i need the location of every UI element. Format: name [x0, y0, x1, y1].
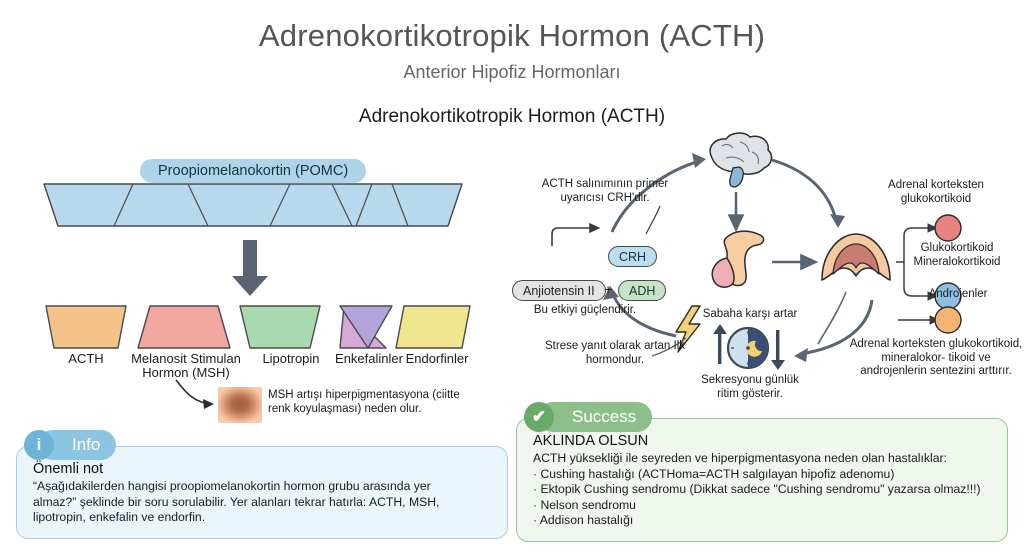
crh-primary-note: ACTH salınımının primer uyarıcısı CRH'di…	[520, 178, 690, 205]
synthesis-line-1: Adrenal korteksten	[850, 338, 946, 350]
page-subtitle: Anterior Hipofiz Hormonları	[0, 62, 1024, 83]
pomc-fragments-group	[46, 306, 470, 348]
pill-crh[interactable]: CRH	[608, 246, 657, 267]
pituitary-illustration	[712, 231, 763, 287]
info-icon: i	[24, 430, 54, 460]
success-line-5: · Addison hastalığı	[533, 513, 991, 529]
angiotensin-to-crh-arrow	[552, 228, 594, 246]
success-callout-header: ✔ Success	[524, 402, 652, 432]
morning-increase-label: Sabaha karşı artar	[690, 308, 810, 322]
cortex-gluco-line-2: glukokortikoid	[901, 193, 971, 205]
stress-line-1: Strese yanıt olarak	[545, 340, 641, 352]
dot-labels-gluco-mineralo: Glukokortikoid Mineralokortikoid	[890, 242, 1024, 269]
cortex-gluco-line-1: Adrenal korteksten	[888, 179, 984, 191]
hormone-dot-glucocorticoid	[935, 215, 961, 241]
adrenal-gland-illustration	[822, 234, 890, 280]
pill-angiotensin-ii[interactable]: Anjiotensin II	[512, 280, 606, 301]
poster-root: Adrenokortikotropik Hormon (ACTH) Anteri…	[0, 0, 1024, 559]
synthesis-note: Adrenal korteksten glukokortikoid, miner…	[848, 338, 1024, 379]
pill-adh[interactable]: ADH	[618, 280, 666, 301]
clock-down-arrow	[771, 330, 785, 370]
hormone-dot-mineralocorticoid	[935, 307, 961, 333]
dot-label-glucocorticoid: Glukokortikoid	[921, 242, 994, 254]
success-badge-label: Success	[538, 402, 652, 432]
success-line-3: · Ektopik Cushing sendromu (Dikkat sadec…	[533, 482, 991, 498]
clock-icon	[728, 328, 768, 368]
synthesis-line-4: sentezini arttırır.	[930, 365, 1012, 377]
fragment-msh	[138, 306, 230, 348]
circadian-line-2: ritim gösterir.	[717, 388, 783, 400]
fragment-label-msh-1: Melanosit Stimulan	[116, 352, 256, 366]
msh-note-line-1: MSH artışı hiperpigmentasyona	[268, 389, 429, 401]
fragment-label-endorfinler: Endorfinler	[392, 352, 482, 366]
fragment-acth	[46, 306, 126, 348]
fragment-label-msh-2: Hormon (MSH)	[116, 366, 256, 380]
page-title: Adrenokortikotropik Hormon (ACTH)	[0, 18, 1024, 54]
msh-note: MSH artışı hiperpigmentasyona (ciitte re…	[268, 389, 483, 416]
fragment-lipotropin	[240, 306, 320, 348]
crh-note-line-1: ACTH salınımının	[542, 178, 633, 190]
fragment-enkefalinler-a	[340, 306, 386, 348]
section-title: Adrenokortikotropik Hormon (ACTH)	[0, 106, 1024, 128]
potentiate-line-1: Bu etkiyi	[534, 304, 577, 316]
dot-label-androgens: Androjenler	[896, 288, 1020, 302]
info-text: “Aşağıdakilerden hangisi proopiomelanoko…	[33, 479, 491, 526]
info-callout: i Info Önemli not “Aşağıdakilerden hangi…	[16, 432, 508, 539]
success-callout: ✔ Success AKLINDA OLSUN ACTH yüksekliği …	[516, 404, 1008, 542]
success-line-4: · Nelson sendromu	[533, 498, 991, 514]
success-callout-body: AKLINDA OLSUN ACTH yüksekliği ile seyred…	[516, 418, 1008, 542]
plus-sign: +	[604, 281, 612, 297]
brain-illustration	[710, 133, 771, 187]
stress-note: Strese yanıt olarak artan Ilk hormondur.	[545, 340, 685, 367]
fragment-endorfinler	[396, 306, 470, 348]
arrow-brain-curve-to-adrenal	[772, 160, 836, 220]
check-icon: ✔	[524, 402, 554, 432]
info-line-1: “Aşağıdakilerden hangisi proopiomelanoko…	[33, 479, 491, 495]
info-title: Önemli not	[33, 461, 491, 477]
pomc-cleavage-arrow	[232, 240, 268, 296]
success-line-1: ACTH yüksekliği ile seyreden ve hiperpig…	[533, 451, 991, 467]
crh-note-leader	[646, 206, 660, 234]
adrenal-leader-line	[818, 292, 846, 344]
clock-up-arrow	[713, 324, 727, 364]
pomc-pill-label: Proopiomelanokortin (POMC)	[140, 159, 366, 183]
success-line-2: · Cushing hastalığı (ACTHoma=ACTH salgıl…	[533, 467, 991, 483]
info-line-3: lipotropin, enkefalin ve endorfin.	[33, 510, 491, 526]
circadian-line-1: Sekresyonu günlük	[701, 374, 799, 386]
dot-label-mineralocorticoid: Mineralokortikoid	[914, 256, 1001, 268]
circadian-note: Sekresyonu günlük ritim gösterir.	[690, 374, 810, 401]
success-text: ACTH yüksekliği ile seyreden ve hiperpig…	[533, 451, 991, 529]
hyperpigmentation-skin-swatch	[218, 387, 262, 423]
fragment-label-lipotropin: Lipotropin	[246, 352, 336, 366]
potentiate-line-2: güçlendirir.	[581, 304, 637, 316]
info-line-2: almaz?” şeklinde bir soru sorulabilir. Y…	[33, 495, 491, 511]
msh-skin-arrow	[176, 380, 214, 409]
pomc-bar-group	[44, 184, 462, 226]
success-title: AKLINDA OLSUN	[533, 433, 991, 449]
fragment-enkefalinler-b	[340, 306, 392, 348]
pomc-bar	[44, 184, 462, 226]
fragment-label-acth: ACTH	[46, 352, 126, 366]
potentiate-note: Bu etkiyi güçlendirir.	[530, 304, 640, 318]
cortex-gluco-note: Adrenal korteksten glukokortikoid	[866, 179, 1006, 206]
info-callout-header: i Info	[24, 430, 116, 460]
